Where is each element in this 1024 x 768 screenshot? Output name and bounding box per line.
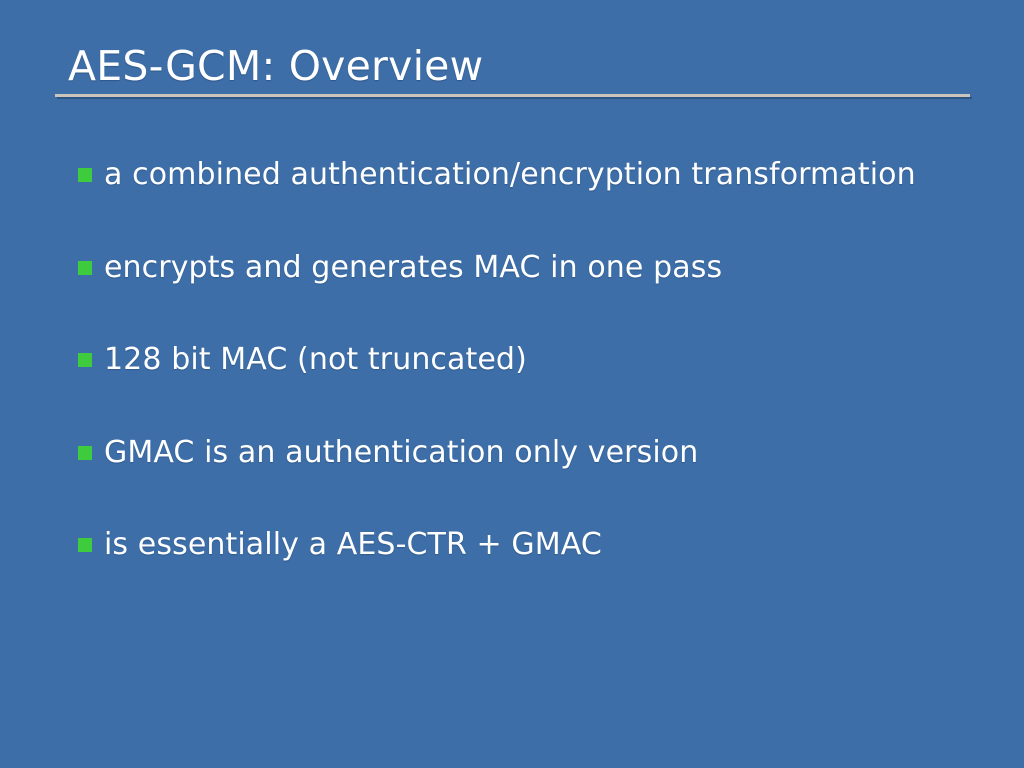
list-item: GMAC is an authentication only version bbox=[78, 433, 978, 526]
title-underline-shadow bbox=[57, 97, 972, 99]
list-item: 128 bit MAC (not truncated) bbox=[78, 340, 978, 433]
list-item: is essentially a AES-CTR + GMAC bbox=[78, 525, 978, 618]
bullet-text: encrypts and generates MAC in one pass bbox=[104, 248, 978, 288]
slide-bullet-list: a combined authentication/encryption tra… bbox=[78, 155, 978, 618]
page-title: AES-GCM: Overview bbox=[68, 40, 483, 92]
slide-title-block: AES-GCM: Overview bbox=[55, 40, 970, 98]
green-square-bullet-icon bbox=[78, 261, 92, 275]
bullet-text: a combined authentication/encryption tra… bbox=[104, 155, 978, 195]
list-item: encrypts and generates MAC in one pass bbox=[78, 248, 978, 341]
green-square-bullet-icon bbox=[78, 538, 92, 552]
green-square-bullet-icon bbox=[78, 353, 92, 367]
bullet-text: 128 bit MAC (not truncated) bbox=[104, 340, 978, 380]
bullet-text: is essentially a AES-CTR + GMAC bbox=[104, 525, 978, 565]
presentation-slide: AES-GCM: Overview a combined authenticat… bbox=[0, 0, 1024, 768]
green-square-bullet-icon bbox=[78, 446, 92, 460]
list-item: a combined authentication/encryption tra… bbox=[78, 155, 978, 248]
green-square-bullet-icon bbox=[78, 168, 92, 182]
bullet-text: GMAC is an authentication only version bbox=[104, 433, 978, 473]
